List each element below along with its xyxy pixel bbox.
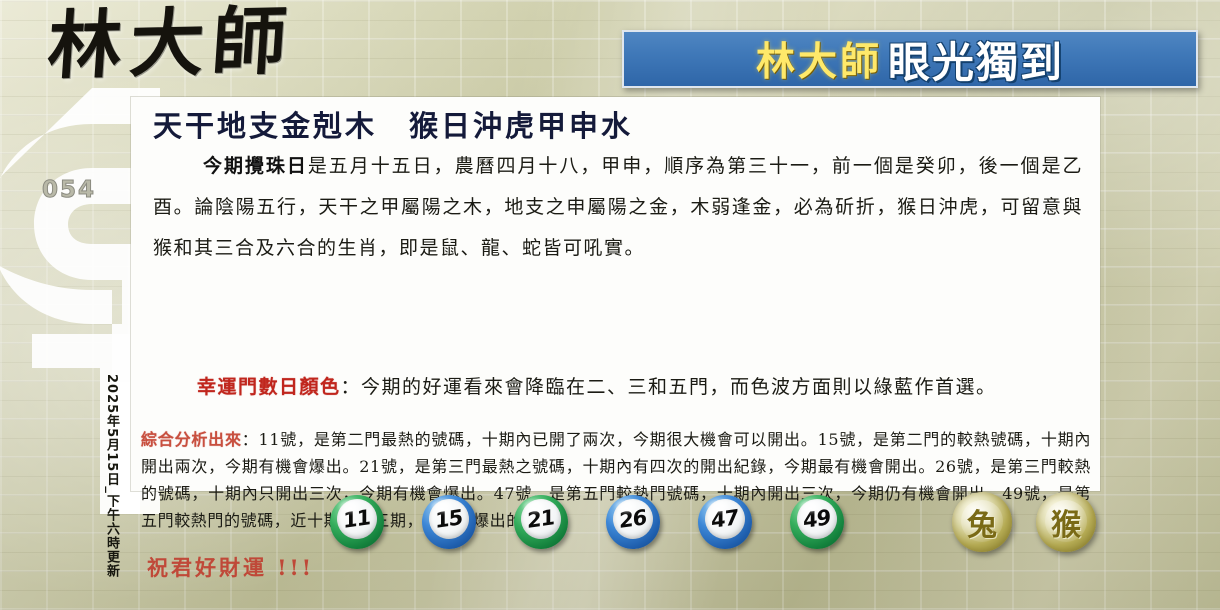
zodiac-row: 兔 猴 (952, 492, 1096, 552)
lottery-ball-gloss (432, 500, 452, 512)
lottery-ball[interactable]: 15 (422, 495, 476, 549)
lottery-ball[interactable]: 49 (790, 495, 844, 549)
lottery-ball-gloss (800, 500, 820, 512)
masthead-title: 林大師 (45, 1, 297, 86)
issue-number: 054 (42, 177, 96, 203)
lucky-body: ：今期的好運看來會降臨在二、三和五門，而色波方面則以綠藍作首選。 (341, 376, 997, 398)
paragraph-main-lead-label: 今期攪珠日 (203, 155, 308, 177)
lucky-label: 幸運門數日顏色 (197, 376, 341, 398)
zodiac-character: 猴 (1051, 500, 1081, 544)
slogan-banner: 林大師 眼光獨到 (622, 30, 1198, 88)
banner-slogan-text: 眼光獨到 (888, 30, 1064, 88)
analysis-label: 綜合分析出來 (141, 430, 242, 449)
article-panel: 天干地支金剋木 猴日沖虎甲申水 今期攪珠日是五月十五日，農曆四月十八，甲申，順序… (131, 97, 1100, 491)
lottery-ball-row: 11 15 21 26 47 (330, 495, 844, 551)
lottery-ball-gloss (708, 500, 728, 512)
zodiac-coin-monkey[interactable]: 猴 (1036, 492, 1096, 552)
paragraph-main: 今期攪珠日是五月十五日，農曆四月十八，甲申，順序為第三十一，前一個是癸卯，後一個… (153, 146, 1083, 269)
lottery-ball[interactable]: 26 (606, 495, 660, 549)
lottery-ball[interactable]: 21 (514, 495, 568, 549)
lottery-ball-gloss (616, 500, 636, 512)
page-root: 054 2025年5月15日_下午六時更新 林大師 林大師 眼光獨到 天干地支金… (0, 0, 1220, 610)
banner-name-text: 林大師 (756, 31, 888, 87)
zodiac-coin-rabbit[interactable]: 兔 (952, 492, 1012, 552)
lottery-ball[interactable]: 47 (698, 495, 752, 549)
zodiac-character: 兔 (967, 500, 997, 544)
signoff-text: 祝君好財運 !!! (147, 552, 314, 582)
lottery-ball-gloss (524, 500, 544, 512)
paragraph-lucky: 幸運門數日顏色：今期的好運看來會降臨在二、三和五門，而色波方面則以綠藍作首選。 (153, 367, 1083, 408)
article-headline: 天干地支金剋木 猴日沖虎甲申水 (153, 103, 633, 145)
update-timestamp: 2025年5月15日_下午六時更新 (100, 374, 122, 594)
lottery-ball[interactable]: 11 (330, 495, 384, 549)
lottery-ball-gloss (340, 500, 360, 512)
